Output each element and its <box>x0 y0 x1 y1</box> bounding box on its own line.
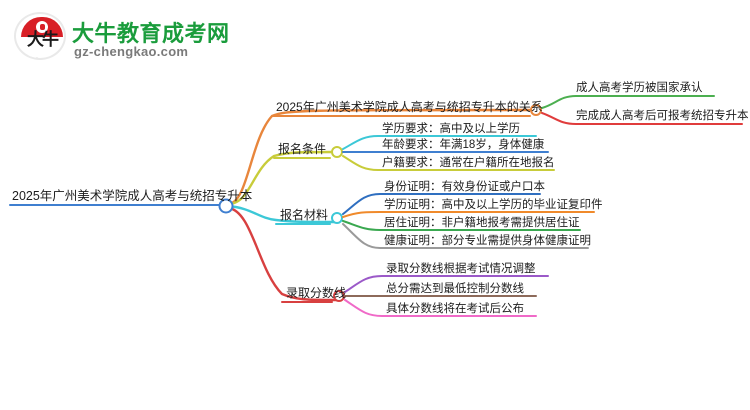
leaf-node-3-3-label[interactable]: 居住证明：非户籍地报考需提供居住证 <box>384 217 580 230</box>
branch-2-node-dot[interactable] <box>332 147 342 157</box>
leaf-node-2-3-label[interactable]: 户籍要求：通常在户籍所在地报名 <box>382 157 555 170</box>
leaf-node-3-4-label[interactable]: 健康证明：部分专业需提供身体健康证明 <box>384 235 591 248</box>
leaf-node-2-1-label[interactable]: 学历要求：高中及以上学历 <box>382 123 520 136</box>
branch-3-node-dot[interactable] <box>332 213 342 223</box>
mindmap-canvas: 大牛 大牛教育成考网 gz-chengkao.com <box>0 0 750 410</box>
leaf-node-3-2-label[interactable]: 学历证明：高中及以上学历的毕业证复印件 <box>384 199 603 212</box>
mindmap-connectors <box>0 0 750 410</box>
leaf-node-1-1-label[interactable]: 成人高考学历被国家承认 <box>576 82 703 95</box>
leaf-node-3-1-label[interactable]: 身份证明：有效身份证或户口本 <box>384 181 545 194</box>
branch-node-1-label[interactable]: 2025年广州美术学院成人高考与统招专升本的关系 <box>276 101 543 114</box>
leaf-node-1-2-label[interactable]: 完成成人高考后可报考统招专升本 <box>576 110 749 123</box>
leaf-line-1-1 <box>542 96 714 108</box>
leaf-node-2-2-label[interactable]: 年龄要求：年满18岁，身体健康 <box>382 139 544 152</box>
root-node-label[interactable]: 2025年广州美术学院成人高考与统招专升本 <box>12 190 252 204</box>
leaf-node-4-1-label[interactable]: 录取分数线根据考试情况调整 <box>386 263 536 276</box>
leaf-node-4-2-label[interactable]: 总分需达到最低控制分数线 <box>386 283 524 296</box>
leaf-node-4-3-label[interactable]: 具体分数线将在考试后公布 <box>386 303 524 316</box>
branch-node-4-label[interactable]: 录取分数线 <box>286 287 346 300</box>
branch-node-3-label[interactable]: 报名材料 <box>280 209 328 222</box>
branch-node-2-label[interactable]: 报名条件 <box>278 143 326 156</box>
